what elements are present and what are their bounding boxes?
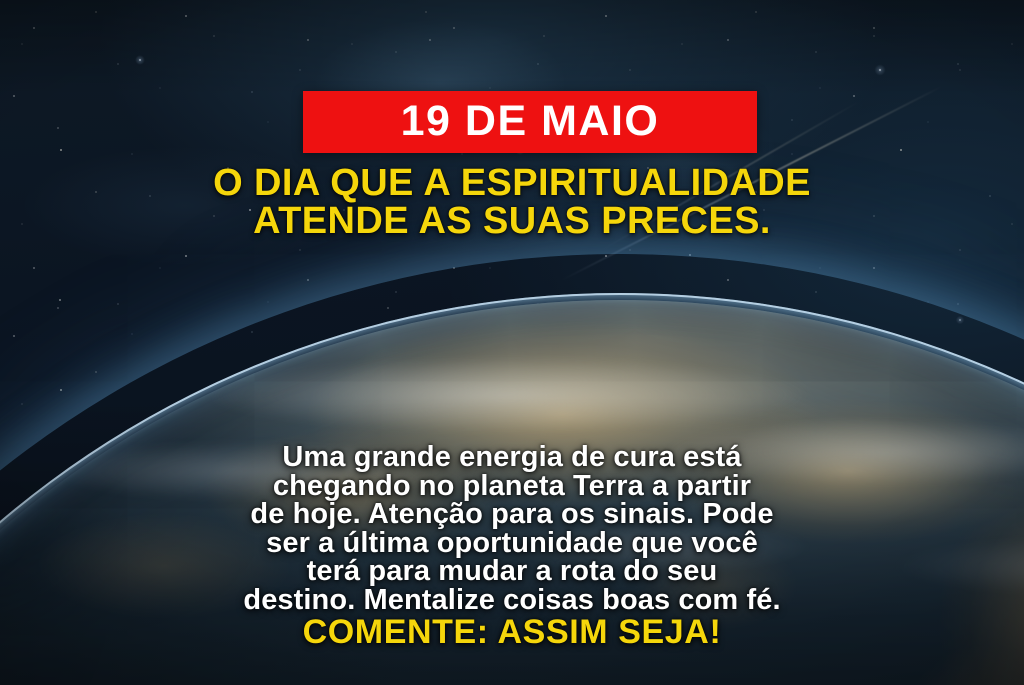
body-line-2: chegando no planeta Terra a partir bbox=[0, 472, 1024, 501]
headline-line-2: ATENDE AS SUAS PRECES. bbox=[0, 202, 1024, 240]
date-banner: 19 DE MAIO bbox=[303, 91, 757, 153]
body-line-6: destino. Mentalize coisas boas com fé. bbox=[0, 586, 1024, 615]
body-line-5: terá para mudar a rota do seu bbox=[0, 557, 1024, 586]
body-line-4: ser a última oportunidade que você bbox=[0, 529, 1024, 558]
date-banner-label: 19 DE MAIO bbox=[401, 100, 660, 143]
body-line-1: Uma grande energia de cura está bbox=[0, 443, 1024, 472]
poster-content: 19 DE MAIO O DIA QUE A ESPIRITUALIDADE A… bbox=[0, 0, 1024, 685]
headline: O DIA QUE A ESPIRITUALIDADE ATENDE AS SU… bbox=[0, 164, 1024, 240]
headline-line-1: O DIA QUE A ESPIRITUALIDADE bbox=[0, 164, 1024, 202]
body-line-3: de hoje. Atenção para os sinais. Pode bbox=[0, 500, 1024, 529]
body-paragraph: Uma grande energia de cura está chegando… bbox=[0, 443, 1024, 614]
poster-canvas: 19 DE MAIO O DIA QUE A ESPIRITUALIDADE A… bbox=[0, 0, 1024, 685]
call-to-action-text: COMENTE: ASSIM SEJA! bbox=[0, 615, 1024, 649]
